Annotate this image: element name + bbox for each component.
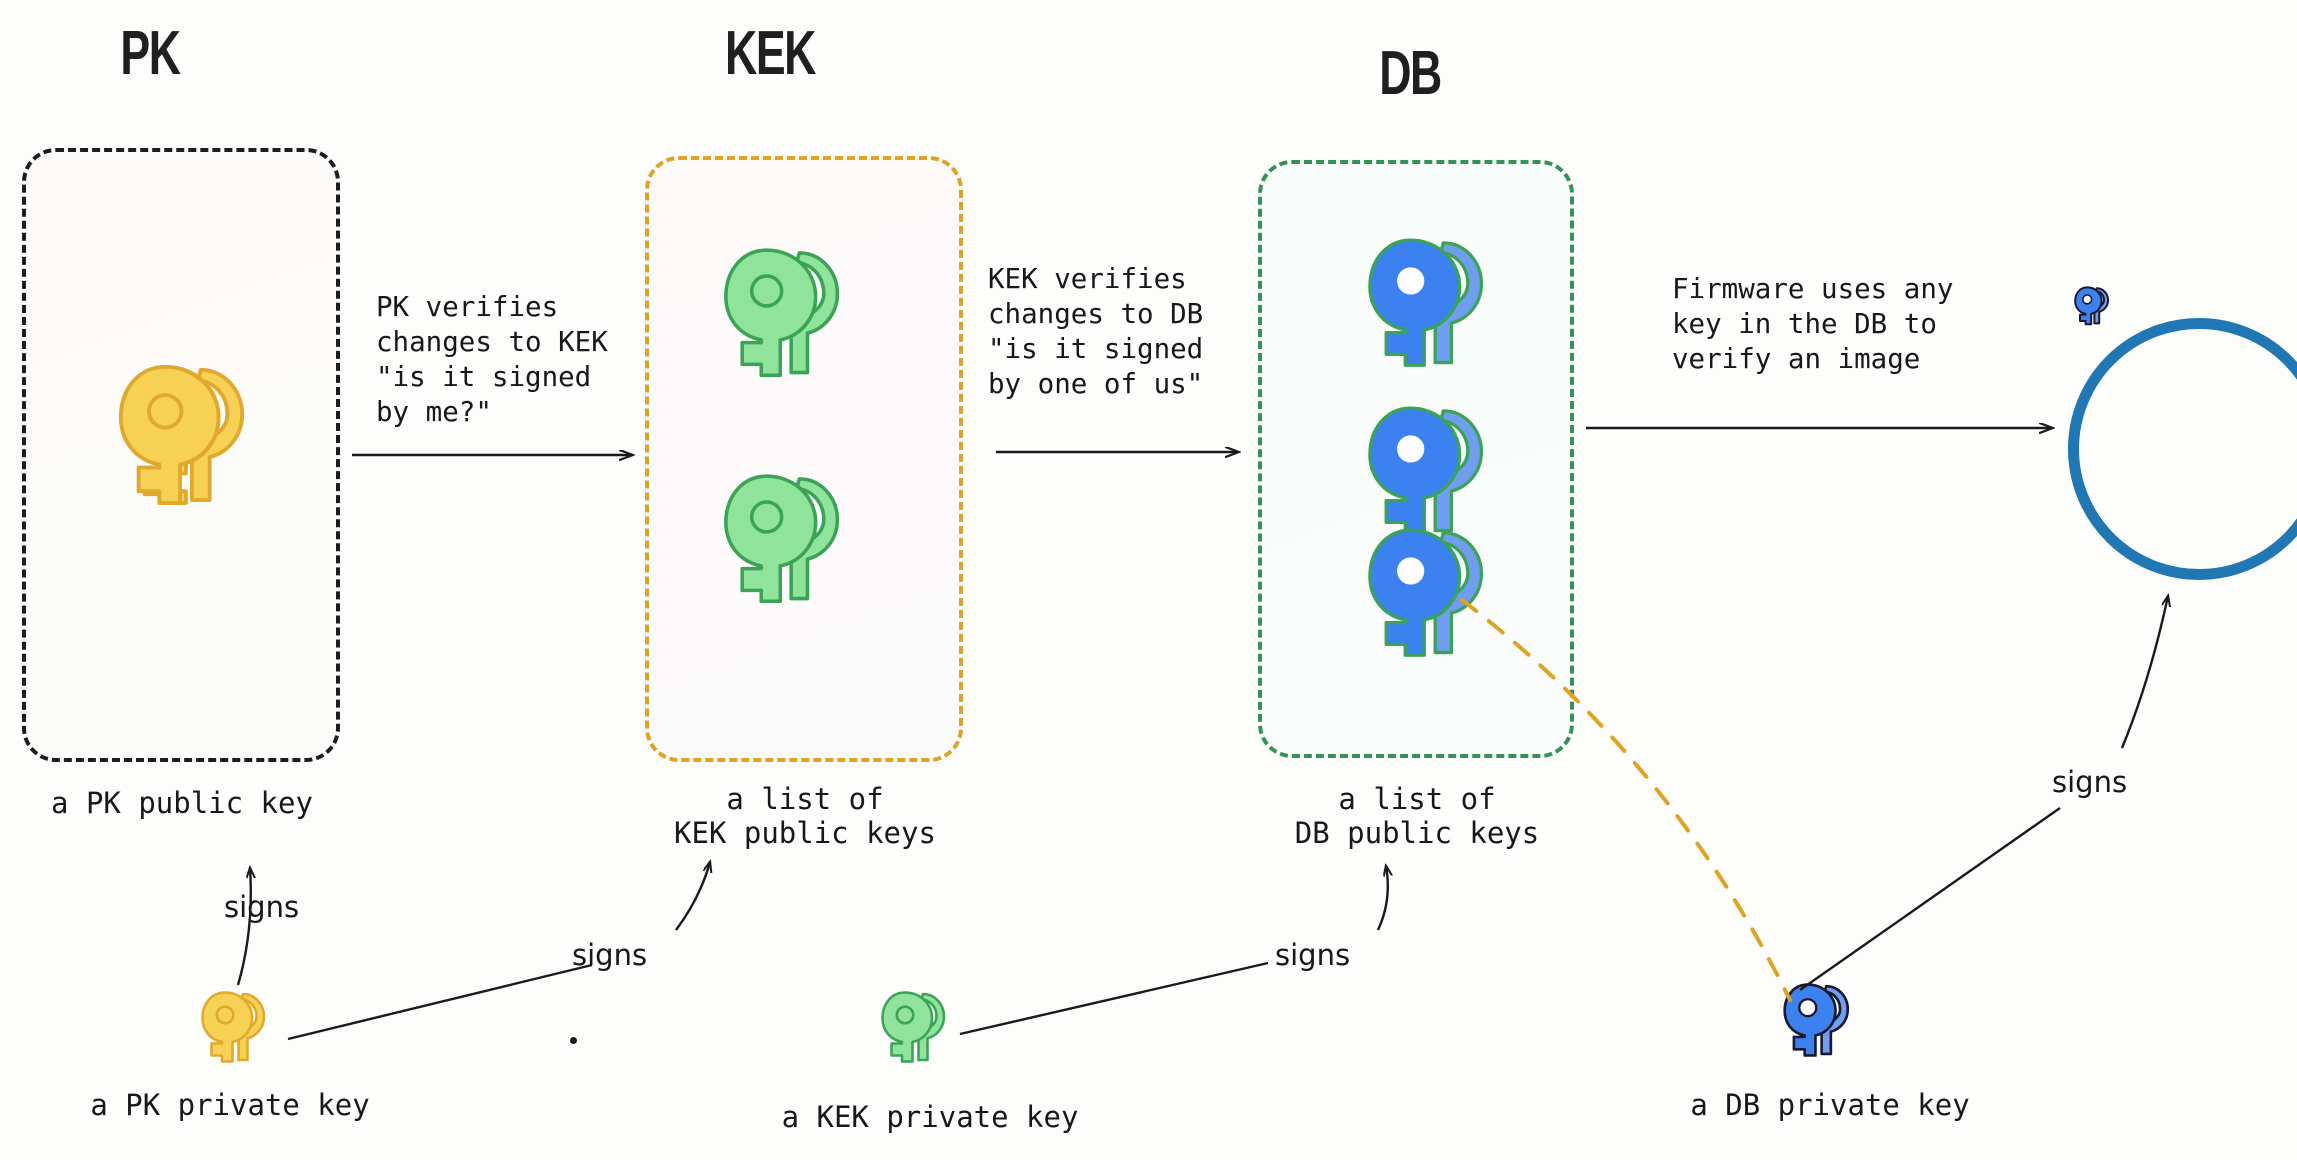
signs-label-image: signs [2052, 765, 2127, 799]
kek-box-caption: a list of KEK public keys [645, 782, 965, 850]
signed-image-key-icon [2072, 285, 2112, 325]
column-header-pk: PK [85, 18, 215, 89]
column-header-kek: KEK [676, 18, 863, 89]
signed-image-node [2068, 318, 2297, 580]
pk-private-key-caption: a PK private key [40, 1088, 420, 1122]
pk-private-key-icon [196, 988, 272, 1063]
db-public-key-icon-3 [1358, 522, 1496, 658]
pk-box-caption: a PK public key [22, 786, 342, 820]
db-public-key-icon-2 [1358, 400, 1496, 536]
connector-layer [0, 0, 2297, 1160]
annotation-pk-verifies-kek: PK verifies changes to KEK "is it signed… [376, 290, 608, 430]
signs-label-db: signs [1275, 938, 1350, 972]
kek-public-key-icon-2 [714, 468, 852, 604]
stray-dot [570, 1037, 577, 1044]
annotation-firmware-uses-db: Firmware uses any key in the DB to verif… [1672, 272, 1953, 377]
signs-label-kek: signs [572, 938, 647, 972]
db-public-key-icon-1 [1358, 232, 1496, 368]
kek-private-key-caption: a KEK private key [720, 1100, 1140, 1134]
arrow-pk-private-signs-pk [238, 868, 251, 985]
db-private-key-caption: a DB private key [1640, 1088, 2020, 1122]
column-header-db: DB [1338, 38, 1482, 109]
annotation-kek-verifies-db: KEK verifies changes to DB "is it signed… [988, 262, 1203, 402]
pk-public-key-icon [108, 358, 258, 506]
signs-label-pk: signs [224, 890, 299, 924]
db-box-caption: a list of DB public keys [1258, 782, 1576, 850]
kek-private-key-icon [876, 988, 952, 1063]
diagram-canvas: PK KEK DB [0, 0, 2297, 1160]
kek-public-key-icon-1 [714, 242, 852, 378]
db-private-key-icon [1778, 980, 1856, 1057]
